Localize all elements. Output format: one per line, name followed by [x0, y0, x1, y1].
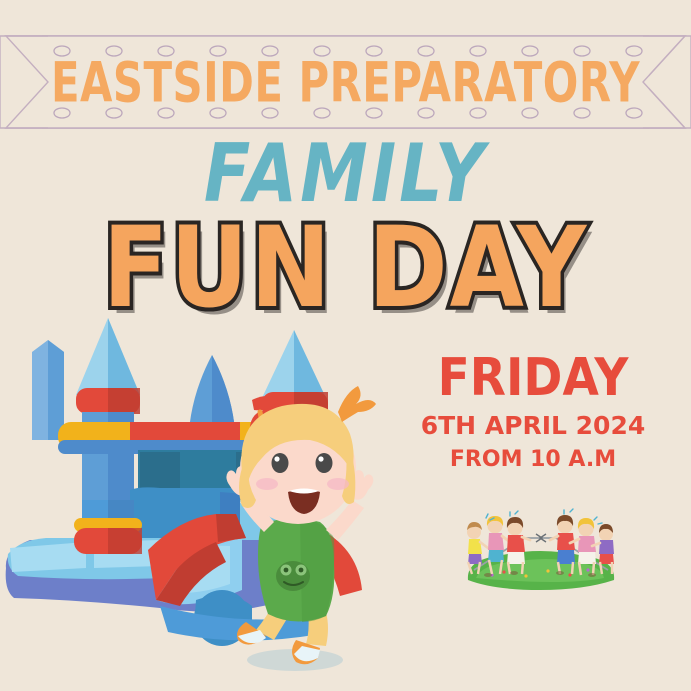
- child-hair-sprig: [338, 386, 376, 422]
- child-right-cheek: [327, 478, 349, 490]
- child-right-eye: [316, 453, 333, 473]
- castle-column-foot: [74, 500, 142, 554]
- event-day: FRIDAY: [398, 352, 668, 404]
- event-time: FROM 10 A.M: [398, 449, 668, 471]
- tug-of-war-children-illustration: [452, 502, 628, 592]
- event-details-block: FRIDAY 6TH APRIL 2024 FROM 10 A.M: [398, 352, 668, 471]
- ribbon-banner: EASTSIDE PREPARATORY: [0, 28, 691, 136]
- poster-canvas: EASTSIDE PREPARATORY FAMILY FUN DAY FRID…: [0, 0, 691, 691]
- bouncy-castle-illustration: [0, 300, 410, 690]
- castle-tower-far-left: [32, 340, 64, 440]
- child-shirt-frog-motif: [276, 561, 310, 591]
- child-left-cheek: [256, 478, 278, 490]
- event-date: 6TH APRIL 2024: [398, 413, 668, 438]
- child-left-eye: [272, 453, 289, 473]
